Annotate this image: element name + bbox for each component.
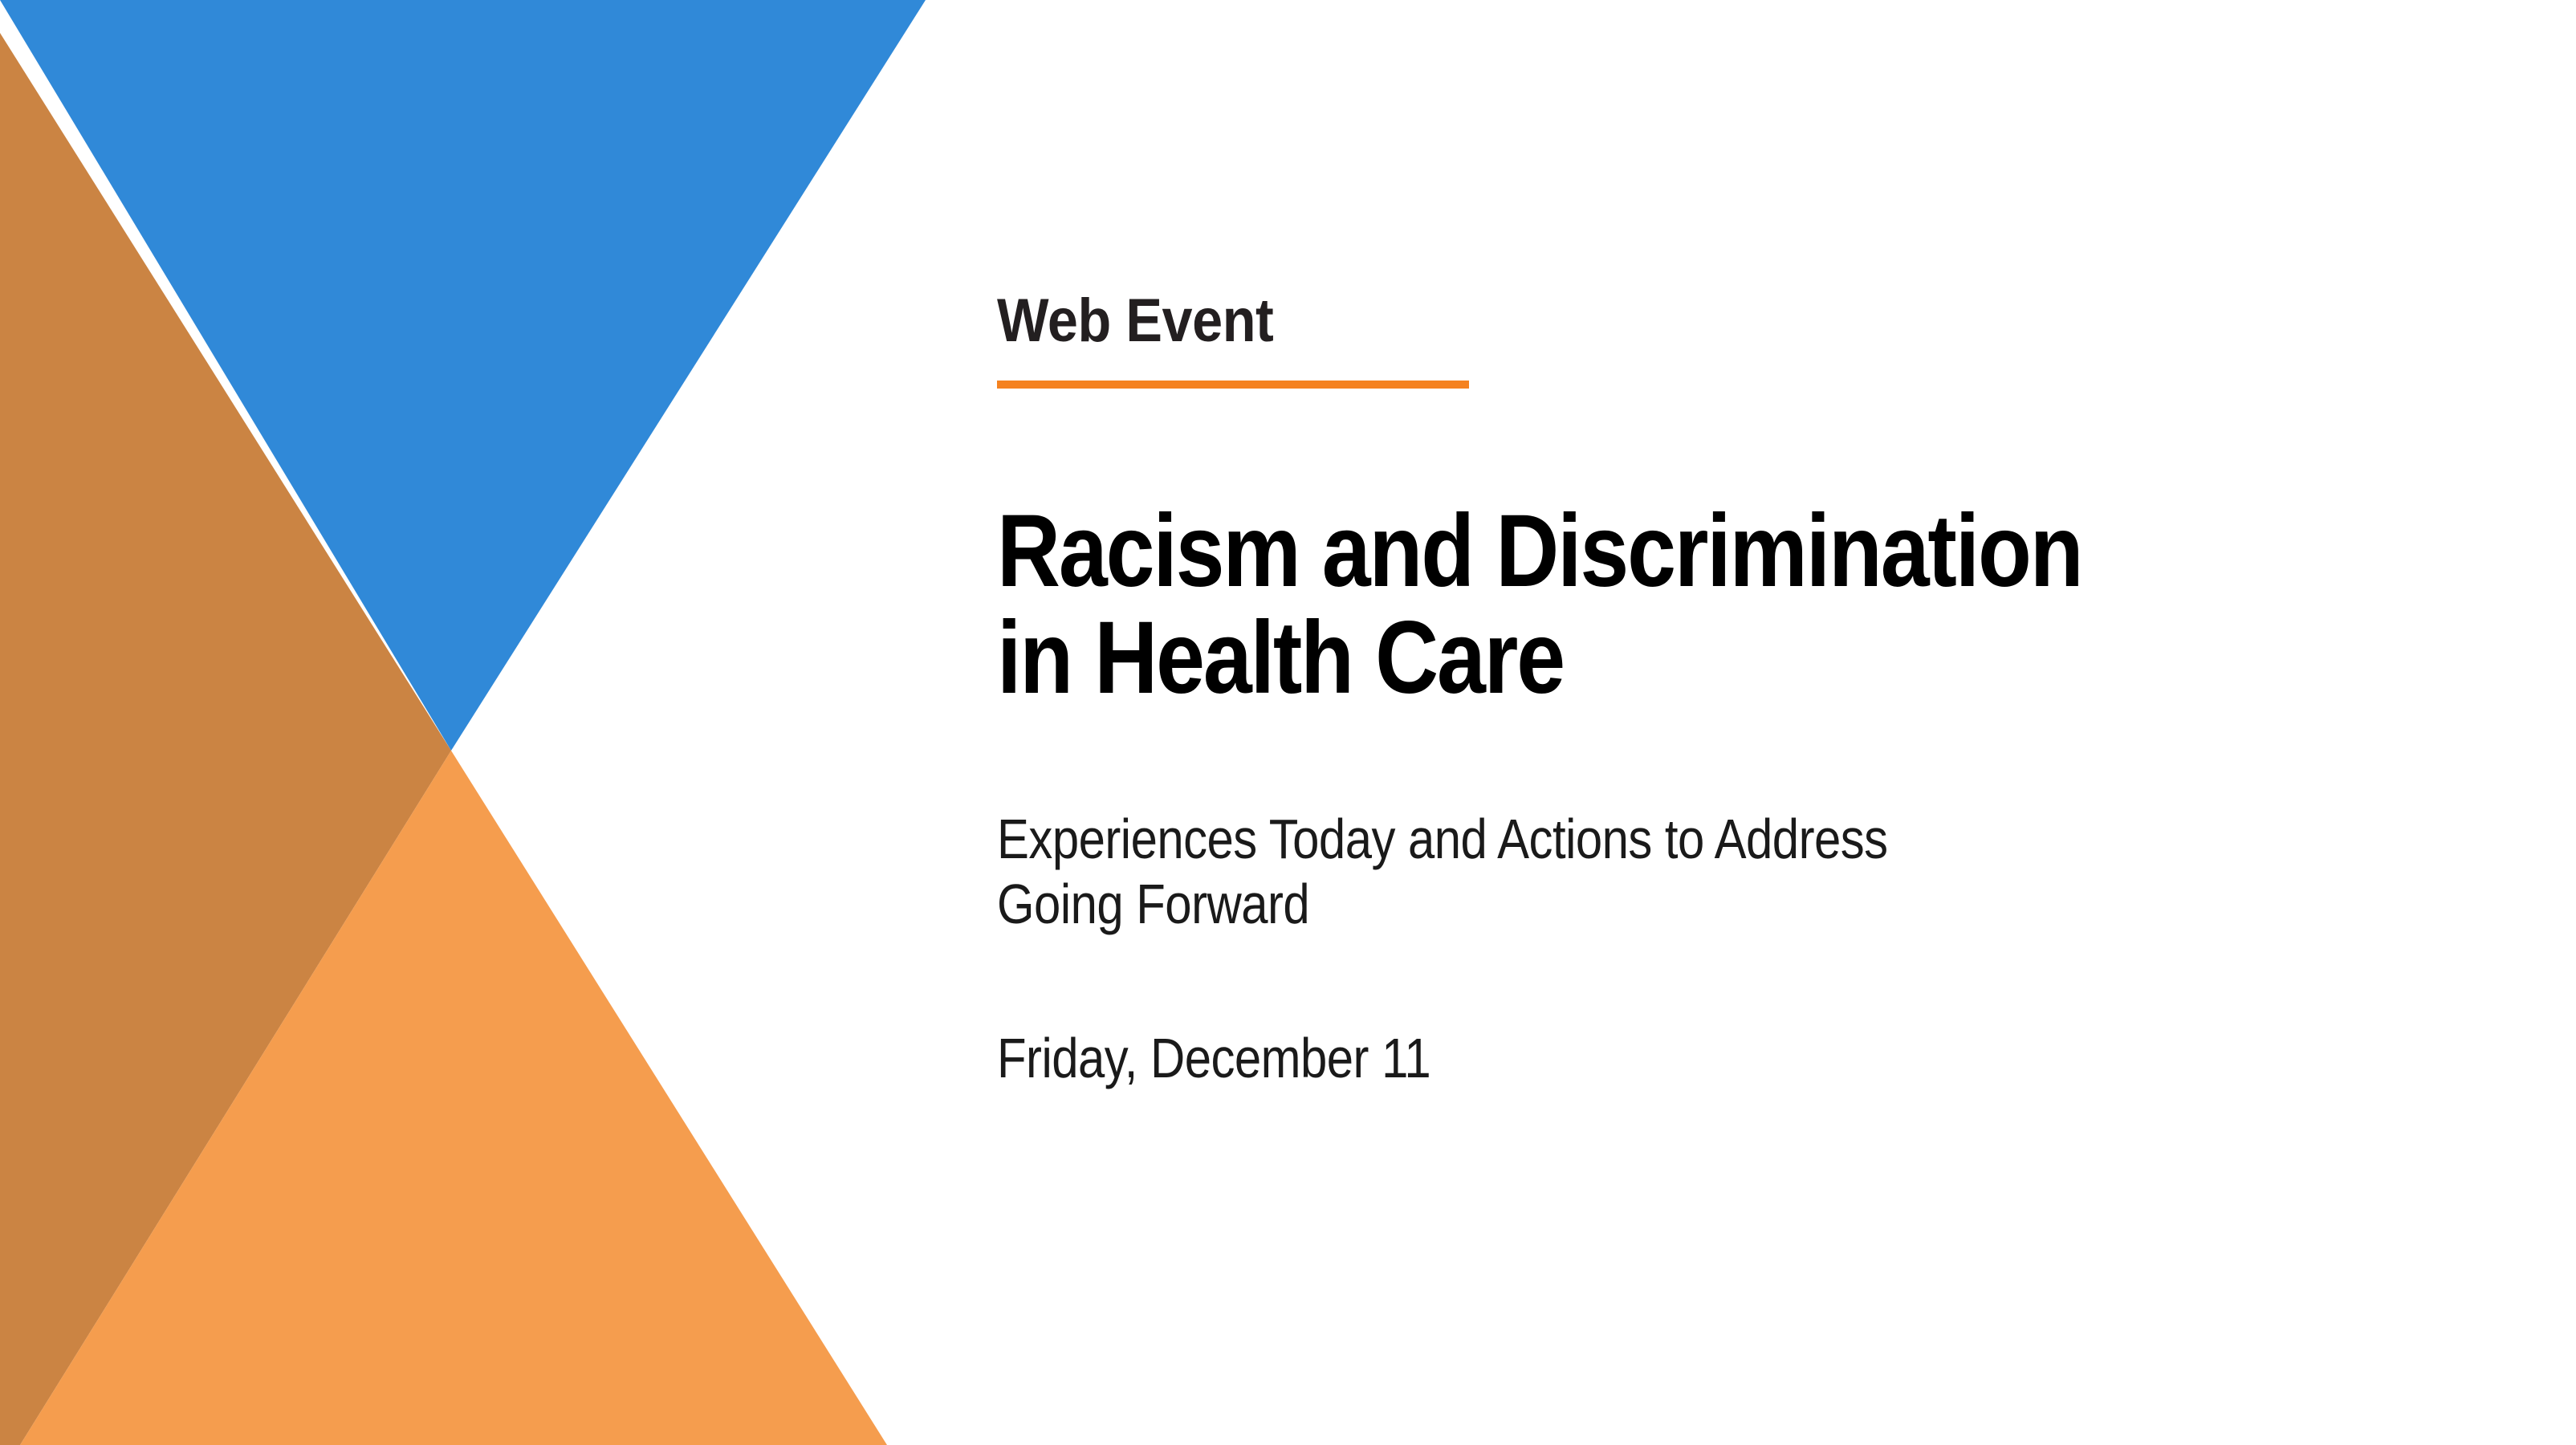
page-title: Racism and Discrimination in Health Care — [997, 498, 2342, 711]
page-subtitle-line-1: Experiences Today and Actions to Address — [997, 807, 1855, 872]
page-title-line-1: Racism and Discrimination — [997, 498, 2342, 604]
event-date: Friday, December 11 — [997, 1026, 1430, 1091]
eyebrow-label: Web Event — [997, 291, 1423, 352]
page-subtitle: Experiences Today and Actions to Address… — [997, 807, 1855, 937]
page-subtitle-line-2: Going Forward — [997, 872, 1855, 937]
eyebrow-block: Web Event — [997, 291, 1471, 389]
slide-canvas: Web Event Racism and Discrimination in H… — [0, 0, 2576, 1445]
geometric-triangles-graphic — [0, 0, 963, 1445]
page-title-line-2: in Health Care — [997, 604, 2342, 711]
eyebrow-underline-rule — [997, 381, 1469, 389]
slide-text-column: Web Event Racism and Discrimination in H… — [997, 0, 2522, 1445]
